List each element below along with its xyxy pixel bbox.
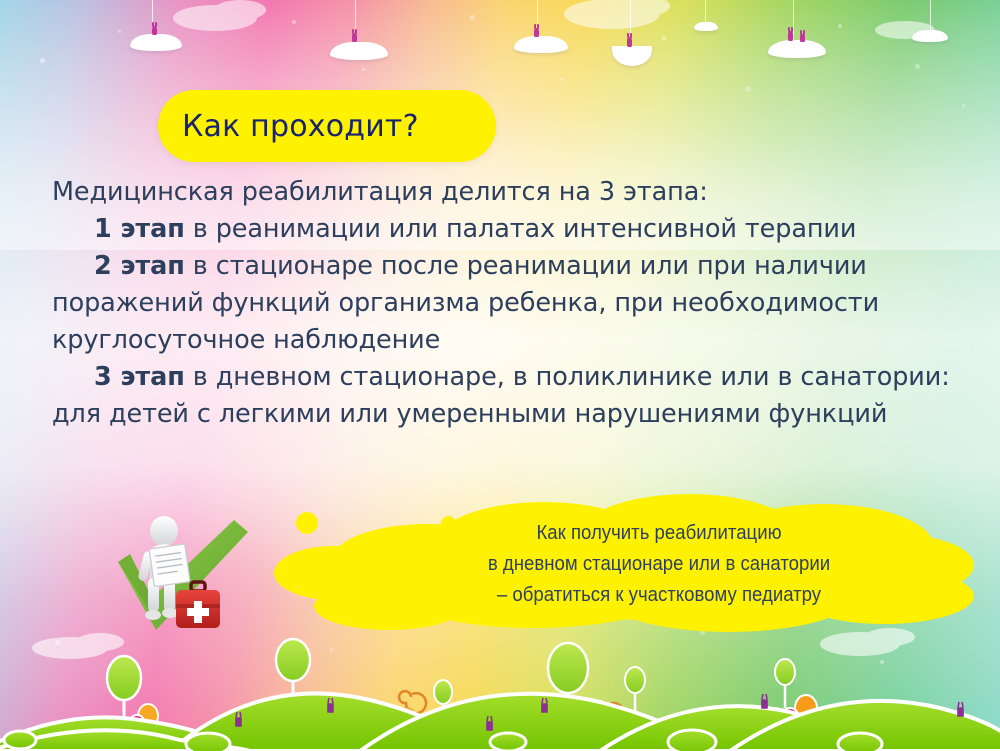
bunny-icon (534, 28, 539, 37)
hanging-cloud-icon (130, 34, 182, 51)
stage-1-paragraph: 1 этап в реанимации или палатах интенсив… (52, 211, 972, 248)
bunny-icon (352, 33, 357, 42)
page-title: Как проходит? (182, 109, 419, 144)
bunny-icon (627, 37, 632, 47)
stage-2-paragraph: 2 этап в стационаре после реанимации или… (52, 248, 972, 359)
hanging-cloud-icon (330, 42, 388, 60)
stage-3-label: 3 этап (94, 362, 185, 392)
bottom-hills-scenery (0, 616, 1000, 751)
presentation-slide: Как проходит? Медицинская реабилитация д… (0, 0, 1000, 751)
bunny-icon (788, 31, 793, 41)
slide-title-banner: Как проходит? (158, 90, 496, 162)
hanging-cloud-icon (694, 22, 718, 31)
hanging-decorations (0, 0, 1000, 120)
callout-text: Как получить реабилитацию в дневном стац… (440, 518, 877, 611)
bunny-icon (152, 26, 157, 35)
hanging-cloud-icon (612, 46, 652, 66)
stage-1-label: 1 этап (94, 214, 185, 244)
stage-3-text: в дневном стационаре, в поликлинике или … (52, 362, 950, 429)
callout-line-1: Как получить реабилитацию (440, 518, 877, 549)
body-intro: Медицинская реабилитация делится на 3 эт… (52, 174, 972, 211)
bunny-icon (800, 34, 805, 42)
slide-body: Медицинская реабилитация делится на 3 эт… (52, 174, 972, 433)
stage-2-label: 2 этап (94, 251, 185, 281)
hanging-cloud-icon (768, 40, 826, 58)
stage-3-paragraph: 3 этап в дневном стационаре, в поликлини… (52, 359, 972, 433)
callout-line-2: в дневном стационаре или в санатории (440, 549, 877, 580)
hanging-cloud-icon (912, 30, 948, 42)
callout-line-3: – обратиться к участковому педиатру (440, 580, 877, 611)
hanging-cloud-icon (514, 36, 568, 53)
callout-cloud: Как получить реабилитацию в дневном стац… (274, 494, 974, 634)
stage-1-text: в реанимации или палатах интенсивной тер… (185, 214, 857, 244)
